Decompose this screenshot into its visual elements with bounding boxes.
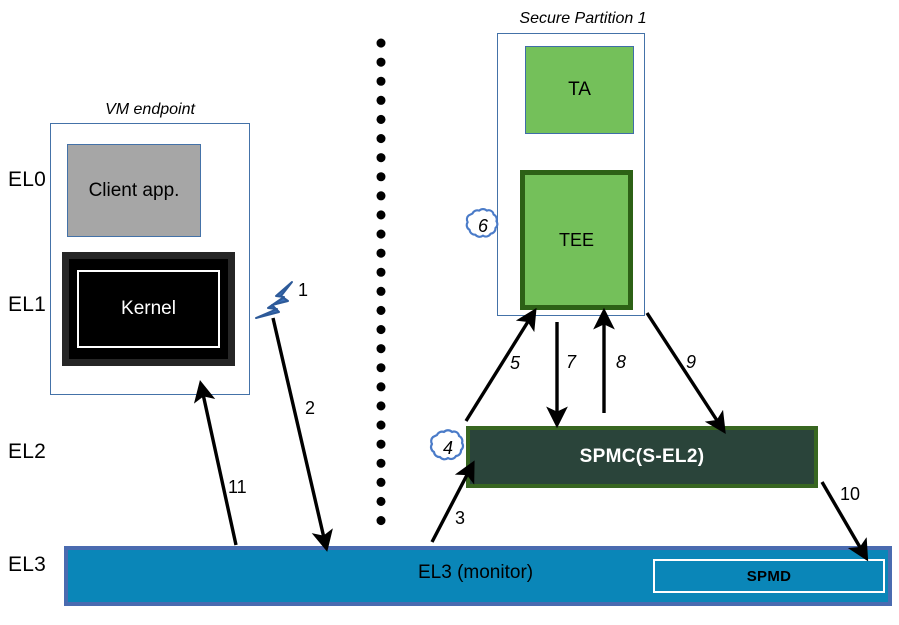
step-9-label: 9 <box>686 352 696 373</box>
step-11-label: 11 <box>228 477 247 498</box>
exception-level-label-el3: EL3 <box>8 553 46 577</box>
exception-level-label-el1: EL1 <box>8 293 46 317</box>
tee-block: TEE <box>520 170 633 310</box>
kernel-inner-frame: Kernel <box>77 270 220 348</box>
client-app-block: Client app. <box>67 144 201 237</box>
callout-6-label: 6 <box>460 203 506 249</box>
callout-4-label: 4 <box>424 424 472 472</box>
lightning-bolt-icon <box>256 282 292 318</box>
secure-partition-title: Secure Partition 1 <box>483 10 683 28</box>
step-7-label: 7 <box>566 352 576 373</box>
tee-label: TEE <box>559 230 594 251</box>
kernel-block: Kernel <box>62 252 235 366</box>
ta-label: TA <box>568 79 591 101</box>
vm-endpoint-title: VM endpoint <box>50 101 250 119</box>
diagram-canvas: EL0 EL1 EL2 EL3 VM endpoint Client app. … <box>0 0 899 625</box>
el3-monitor-label: EL3 (monitor) <box>418 562 533 584</box>
step-8-label: 8 <box>616 352 626 373</box>
kernel-label: Kernel <box>121 298 176 320</box>
arrow-step-11 <box>203 394 236 545</box>
callout-6-bubble: 6 <box>460 203 506 249</box>
spmc-label: SPMC(S-EL2) <box>580 446 705 468</box>
trusted-application-block: TA <box>525 46 634 134</box>
exception-level-label-el2: EL2 <box>8 440 46 464</box>
step-1-label: 1 <box>298 280 308 301</box>
client-app-label: Client app. <box>89 180 180 202</box>
step-3-label: 3 <box>455 508 465 529</box>
step-10-label: 10 <box>840 484 860 505</box>
exception-level-label-el0: EL0 <box>8 168 46 192</box>
arrow-step-2 <box>273 318 324 538</box>
step-2-label: 2 <box>305 398 315 419</box>
spmc-block: SPMC(S-EL2) <box>466 426 818 488</box>
spmd-label: SPMD <box>747 568 792 585</box>
spmd-block: SPMD <box>653 559 885 593</box>
step-5-label: 5 <box>510 353 520 374</box>
arrow-step-9 <box>647 313 718 422</box>
callout-4-bubble: 4 <box>424 424 472 472</box>
